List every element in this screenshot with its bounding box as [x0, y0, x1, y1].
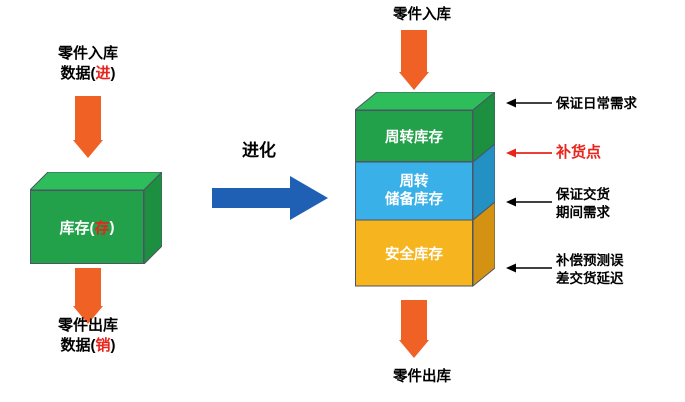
- right-inbound-arrow-icon: [389, 30, 439, 90]
- left-inbound-label-line2: 数据(进): [18, 64, 158, 84]
- annotation-arrow-delivery-demand-icon: [506, 194, 554, 210]
- annotation-daily-demand: 保证日常需求: [556, 95, 637, 113]
- annotation-arrow-reorder-point-shape: [506, 145, 554, 161]
- left-inbound-label-suffix: ): [111, 65, 116, 82]
- annotation-arrow-delivery-demand-shape: [506, 194, 554, 210]
- annotation-arrow-reorder-point-icon: [506, 145, 554, 161]
- left-inventory-box-highlight: 存: [94, 217, 109, 238]
- evolution-arrow-shape: [212, 176, 328, 220]
- left-inventory-box-label: 库存(存): [30, 190, 144, 264]
- annotation-delivery-demand-line2: 期间需求: [556, 204, 610, 222]
- left-outbound-label-line2: 数据(销): [18, 336, 158, 356]
- annotation-arrow-forecast-error-shape: [506, 260, 554, 276]
- annotation-forecast-error: 补偿预测误 差交货延迟: [556, 252, 624, 288]
- left-inbound-arrow-icon: [63, 96, 113, 158]
- evolution-arrow-icon: [212, 176, 328, 220]
- stack-layer-reserve-label-line1: 周转: [400, 173, 429, 191]
- inventory-stack: 周转库存 周转 储备库存 安全库存: [355, 92, 495, 304]
- right-outbound-arrow-icon: [389, 300, 439, 362]
- annotation-reorder-point: 补货点: [556, 143, 601, 163]
- left-outbound-label-prefix: 数据(: [60, 337, 95, 354]
- left-outbound-label-highlight: 销: [95, 337, 110, 354]
- left-inbound-label: 零件入库 数据(进): [18, 44, 158, 85]
- annotation-daily-demand-line1: 保证日常需求: [556, 95, 637, 113]
- stack-layer-reserve-label-line2: 储备库存: [385, 191, 443, 209]
- left-outbound-label-suffix: ): [111, 337, 116, 354]
- left-inventory-box-prefix: 库存(: [59, 217, 94, 238]
- annotation-arrow-forecast-error-icon: [506, 260, 554, 276]
- annotation-delivery-demand: 保证交货 期间需求: [556, 186, 610, 222]
- right-outbound-label: 零件出库: [352, 368, 492, 388]
- left-inbound-label-line1: 零件入库: [18, 44, 158, 64]
- annotation-forecast-error-line2: 差交货延迟: [556, 270, 624, 288]
- stack-layer-turnover-label: 周转库存: [355, 110, 473, 162]
- left-inventory-box-suffix: ): [110, 219, 115, 236]
- stack-layer-reserve-label: 周转 储备库存: [355, 162, 473, 220]
- left-outbound-label: 零件出库 数据(销): [18, 316, 158, 357]
- annotation-forecast-error-line1: 补偿预测误: [556, 252, 624, 270]
- right-inbound-label: 零件入库: [352, 6, 492, 26]
- left-inbound-label-highlight: 进: [95, 65, 110, 82]
- annotation-reorder-point-line1: 补货点: [556, 143, 601, 163]
- evolution-label: 进化: [224, 140, 294, 163]
- left-inventory-box: 库存(存): [30, 172, 162, 264]
- annotation-arrow-daily-demand-icon: [506, 95, 554, 111]
- annotation-delivery-demand-line1: 保证交货: [556, 186, 610, 204]
- stack-layer-safety-label: 安全库存: [355, 220, 473, 286]
- annotation-arrow-daily-demand-shape: [506, 95, 554, 111]
- left-inbound-label-prefix: 数据(: [60, 65, 95, 82]
- left-outbound-label-line1: 零件出库: [18, 316, 158, 336]
